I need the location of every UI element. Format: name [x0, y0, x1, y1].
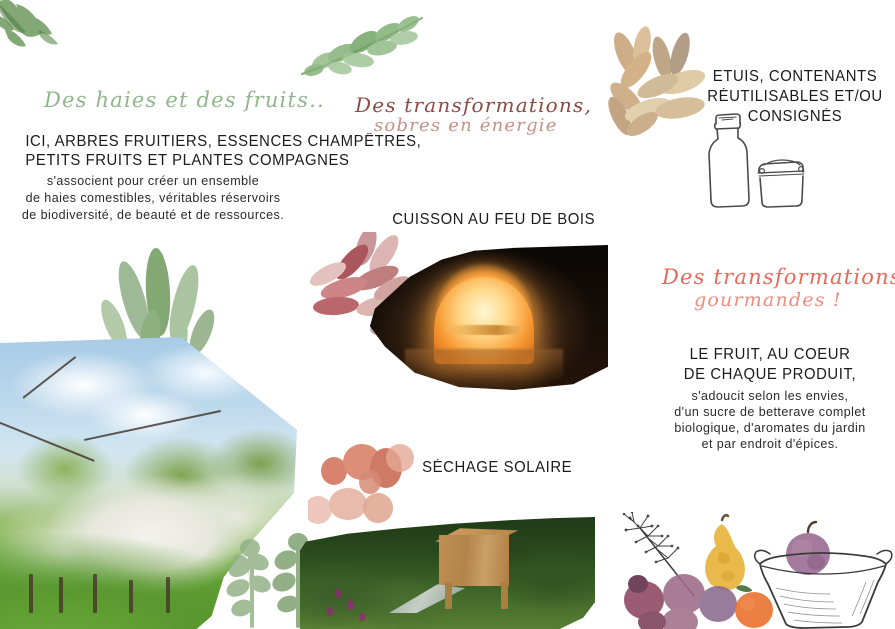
- transformations-energy-heading-line-1: Des transformations,: [355, 94, 592, 116]
- hedges-body-line-1: s'associent pour créer un ensemble: [20, 173, 286, 190]
- gourmandes-display-line-1: LE FRUIT, AU COEUR: [660, 346, 881, 365]
- hedges-heading: Des haies et des fruits..: [44, 89, 325, 113]
- gourmandes-body-line-3: biologique, d'aromates du jardin: [652, 420, 888, 437]
- copper-pot-sketch-icon: [752, 548, 895, 629]
- transformations-gourmandes-heading-line-1: Des transformations: [662, 266, 895, 290]
- orchard-trunk: [29, 574, 33, 613]
- hedges-body-line-3: de biodiversité, de beauté et de ressour…: [20, 207, 286, 224]
- oven-floor: [405, 349, 564, 381]
- orchard-trunk: [93, 574, 97, 613]
- caption-solar-drying: SÉCHAGE SOLAIRE: [422, 459, 572, 478]
- dryer-box: [439, 535, 510, 587]
- transformations-gourmandes-heading-line-2: gourmandes !: [694, 290, 842, 311]
- oven-ember-line: [444, 325, 523, 335]
- packaging-display-line-1: ETUIS, CONTENANTS: [704, 68, 886, 87]
- orchard-trunk: [129, 580, 133, 613]
- bottle-and-jar-sketch-icon: [702, 108, 810, 214]
- dryer-flower: [359, 613, 365, 621]
- green-leafy-branch-icon: [296, 12, 426, 84]
- gourmandes-body-line-4: et par endroit d'épices.: [652, 436, 888, 453]
- dryer-solar-panel: [389, 584, 466, 613]
- orchard-branch: [83, 410, 221, 441]
- solar-dryer-photo: [300, 517, 595, 629]
- caption-wood-fire: CUISSON AU FEU DE BOIS: [392, 211, 595, 230]
- packaging-display-line-2: RÉUTILISABLES ET/OU: [704, 88, 886, 107]
- orchard-trunk: [59, 577, 63, 613]
- dryer-leg: [501, 582, 508, 609]
- brochure-canvas: Des haies et des fruits.. ICI, ARBRES FR…: [0, 0, 895, 629]
- hedges-body-line-2: de haies comestibles, véritables réservo…: [20, 190, 286, 207]
- gourmandes-body-line-2: d'un sucre de betterave complet: [652, 404, 888, 421]
- orchard-branch: [22, 356, 76, 399]
- dryer-flower: [335, 589, 341, 598]
- hedges-display-line-1: ICI, ARBRES FRUITIERS, ESSENCES CHAMPÊTR…: [25, 133, 280, 152]
- tan-petal-cluster-icon: [596, 24, 718, 142]
- orchard-trunk: [166, 577, 170, 613]
- gourmandes-display-line-2: DE CHAQUE PRODUIT,: [660, 366, 881, 385]
- dryer-flower: [347, 600, 354, 610]
- orchard-branch: [0, 421, 95, 462]
- dryer-flower: [327, 607, 333, 616]
- transformations-energy-heading-line-2: sobres en énergie: [374, 116, 558, 136]
- hedges-display-line-2: PETITS FRUITS ET PLANTES COMPAGNES: [25, 152, 280, 171]
- top-left-fern-icon: [0, 0, 86, 70]
- gourmandes-body-line-1: s'adoucit selon les envies,: [655, 388, 885, 405]
- dryer-leg: [445, 582, 452, 609]
